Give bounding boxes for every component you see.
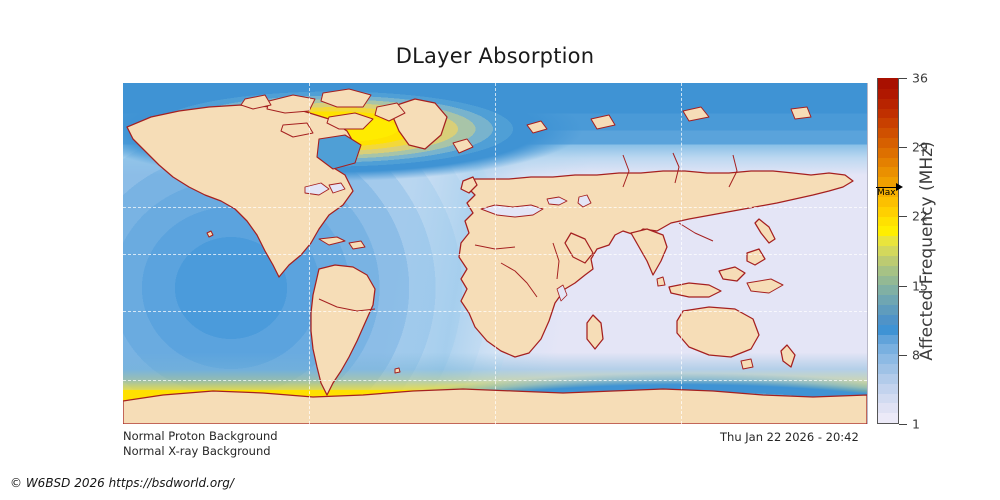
colorbar-segment <box>878 383 898 393</box>
papua-new-guinea <box>747 279 783 293</box>
india-peninsula <box>631 229 667 275</box>
arctic-island-1 <box>267 95 315 113</box>
colorbar-tick-mark <box>899 424 907 425</box>
new-siberian-islands <box>791 107 811 119</box>
colorbar-segment <box>878 88 898 98</box>
xray-background-status: Normal X-ray Background <box>123 444 278 459</box>
colorbar-segment <box>878 314 898 324</box>
proton-background-status: Normal Proton Background <box>123 429 278 444</box>
colorbar-segment <box>878 78 898 88</box>
colorbar-segment <box>878 304 898 314</box>
arctic-island-2 <box>321 89 371 107</box>
colorbar-tick-mark <box>899 78 907 79</box>
colorbar-segment <box>878 147 898 157</box>
colorbar-segment <box>878 167 898 177</box>
coastline-overlay <box>123 83 867 424</box>
hispaniola <box>349 241 365 249</box>
colorbar-segment <box>878 373 898 383</box>
colorbar-segment <box>878 108 898 118</box>
colorbar-axis-label: Affected Frequency (MHz) <box>916 78 938 424</box>
greenland <box>393 99 447 149</box>
page-title: DLayer Absorption <box>0 44 990 68</box>
hawaii <box>207 231 213 237</box>
antarctica <box>123 389 867 424</box>
australia <box>677 307 759 357</box>
colorbar-segment <box>878 285 898 295</box>
colorbar-segment <box>878 98 898 108</box>
indonesia <box>669 283 721 297</box>
colorbar-segment <box>878 354 898 364</box>
madagascar <box>587 315 603 349</box>
colorbar-segment <box>878 403 898 413</box>
colorbar-tick-mark <box>899 355 907 356</box>
colorbar-segment <box>878 295 898 305</box>
colorbar-segment <box>878 216 898 226</box>
colorbar-gradient <box>877 78 899 424</box>
arctic-island-3 <box>327 113 373 129</box>
borneo <box>719 267 745 281</box>
colorbar-segment <box>878 393 898 403</box>
colorbar-segment <box>878 363 898 373</box>
colorbar-tick-mark <box>899 216 907 217</box>
world-absorption-map[interactable] <box>123 83 868 424</box>
severnaya-zemlya <box>683 107 709 121</box>
iceland <box>453 139 473 153</box>
colorbar[interactable] <box>877 78 899 424</box>
south-america <box>311 265 375 395</box>
tasmania <box>741 359 753 369</box>
colorbar-segment <box>878 275 898 285</box>
colorbar-segment <box>878 413 898 423</box>
japan <box>755 219 775 243</box>
cuba <box>319 237 345 245</box>
colorbar-segment <box>878 177 898 187</box>
colorbar-segment <box>878 246 898 256</box>
colorbar-segment <box>878 118 898 128</box>
timestamp: Thu Jan 22 2026 - 20:42 <box>720 430 859 444</box>
sri-lanka <box>657 277 665 286</box>
background-status: Normal Proton Background Normal X-ray Ba… <box>123 429 278 459</box>
colorbar-segment <box>878 196 898 206</box>
colorbar-tick-mark <box>899 147 907 148</box>
colorbar-segment <box>878 206 898 216</box>
colorbar-segment <box>878 344 898 354</box>
colorbar-segment <box>878 334 898 344</box>
max-marker-arrow-icon <box>896 183 903 191</box>
yangtze-river <box>679 223 713 241</box>
philippines <box>747 249 765 265</box>
new-zealand <box>781 345 795 367</box>
colorbar-segment <box>878 236 898 246</box>
credit-line: © W6BSD 2026 https://bsdworld.org/ <box>10 476 234 490</box>
colorbar-segment <box>878 128 898 138</box>
colorbar-segment <box>878 324 898 334</box>
colorbar-segment <box>878 265 898 275</box>
colorbar-segment <box>878 137 898 147</box>
svalbard <box>527 121 547 133</box>
falklands <box>395 368 400 373</box>
max-marker-label: Max <box>877 188 896 198</box>
colorbar-tick-mark <box>899 286 907 287</box>
colorbar-segment <box>878 157 898 167</box>
colorbar-segment <box>878 226 898 236</box>
novaya-zemlya <box>591 115 615 129</box>
colorbar-segment <box>878 255 898 265</box>
